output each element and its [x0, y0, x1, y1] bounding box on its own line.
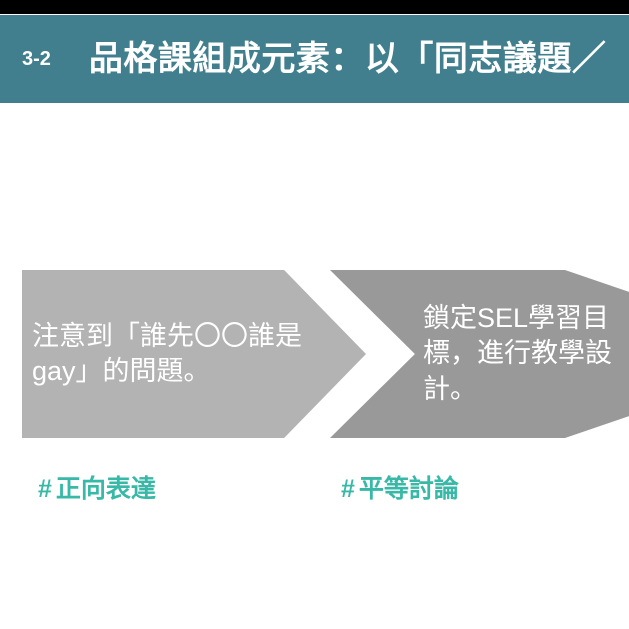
top-black-bar: [0, 0, 629, 14]
hashtag-step-1-label: 正向表達: [56, 475, 156, 503]
hashtag-step-2-label: 平等討論: [359, 475, 459, 503]
section-number: 3-2: [22, 49, 51, 69]
process-chevron-row: 注意到「誰先〇〇誰是gay」的問題。 鎖定SEL學習目標，進行教學設計。: [0, 270, 629, 438]
hashtag-step-2: #平等討論: [341, 477, 459, 502]
hash-icon: #: [341, 475, 355, 503]
title-banner: 3-2 品格課組成元素：以「同志議題／: [0, 15, 629, 103]
title-banner-content: 3-2 品格課組成元素：以「同志議題／: [0, 15, 629, 103]
process-step-1[interactable]: 注意到「誰先〇〇誰是gay」的問題。: [22, 270, 366, 438]
slide-canvas: 3-2 品格課組成元素：以「同志議題／ 注意到「誰先〇〇誰是gay」的問題。 鎖…: [0, 0, 629, 629]
hash-icon: #: [38, 475, 52, 503]
process-step-2-text: 鎖定SEL學習目標，進行教學設計。: [423, 301, 613, 406]
process-step-2[interactable]: 鎖定SEL學習目標，進行教學設計。: [330, 270, 629, 438]
page-title: 品格課組成元素：以「同志議題／: [89, 42, 607, 76]
hashtag-step-1: #正向表達: [38, 477, 156, 502]
process-step-1-text: 注意到「誰先〇〇誰是gay」的問題。: [32, 319, 326, 389]
